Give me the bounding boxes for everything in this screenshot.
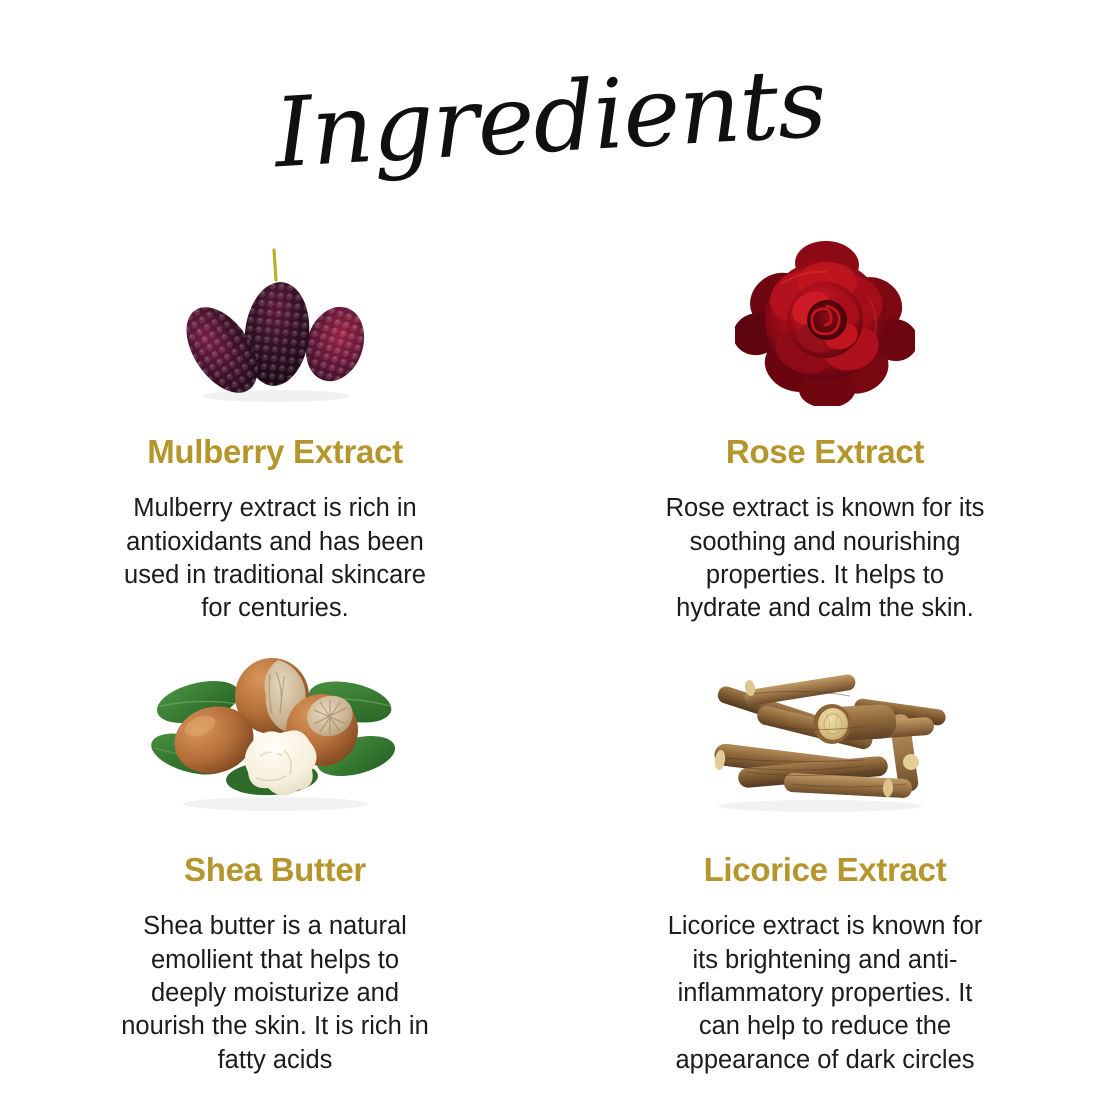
ingredient-description-rose: Rose extract is known for its soothing a… bbox=[660, 492, 990, 626]
ingredient-title-licorice: Licorice Extract bbox=[704, 852, 947, 888]
licorice-cut-face bbox=[818, 708, 848, 740]
ingredient-title-mulberry: Mulberry Extract bbox=[147, 434, 403, 470]
mulberry-fruit-illustration bbox=[164, 246, 386, 406]
ingredient-title-rose: Rose Extract bbox=[726, 434, 924, 470]
licorice-root-sticks-illustration bbox=[698, 664, 952, 816]
shea-butter-chunks bbox=[245, 730, 317, 795]
licorice-image bbox=[698, 640, 952, 816]
ingredients-grid: Mulberry Extract Mulberry extract is ric… bbox=[0, 238, 1100, 1077]
ingredient-card-shea: Shea Butter Shea butter is a natural emo… bbox=[0, 640, 550, 1077]
ingredient-card-rose: Rose Extract Rose extract is known for i… bbox=[550, 238, 1100, 626]
shea-image bbox=[144, 640, 406, 816]
licorice-cut-stick bbox=[813, 704, 897, 744]
rose-image bbox=[735, 238, 915, 406]
mulberry-berry-right bbox=[297, 299, 374, 389]
ingredient-card-mulberry: Mulberry Extract Mulberry extract is ric… bbox=[0, 238, 550, 626]
ingredient-description-shea: Shea butter is a natural emollient that … bbox=[110, 910, 440, 1077]
shea-nuts-and-butter-illustration bbox=[144, 644, 406, 816]
licorice-front-sticks bbox=[713, 742, 912, 798]
ingredient-description-licorice: Licorice extract is known for its bright… bbox=[660, 910, 990, 1077]
ingredient-card-licorice: Licorice Extract Licorice extract is kno… bbox=[550, 640, 1100, 1077]
mulberry-image bbox=[164, 238, 386, 406]
ingredient-description-mulberry: Mulberry extract is rich in antioxidants… bbox=[110, 492, 440, 626]
page-title: Ingredients bbox=[0, 27, 1100, 208]
mulberry-stem bbox=[274, 250, 276, 280]
red-rose-illustration bbox=[735, 238, 915, 406]
ingredient-title-shea: Shea Butter bbox=[184, 852, 366, 888]
